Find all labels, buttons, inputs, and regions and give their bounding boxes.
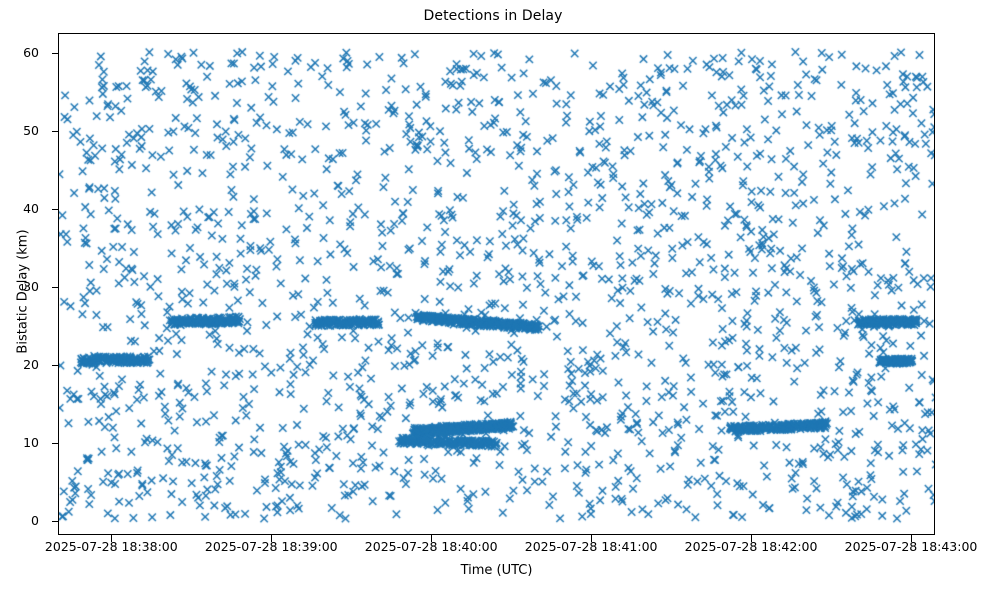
y-tick-mark [52, 365, 59, 366]
plot-area [58, 33, 935, 535]
matplotlib-figure: Detections in Delay 0102030405060 2025-0… [0, 0, 986, 590]
y-tick-label: 60 [23, 47, 39, 59]
y-tick-mark [52, 53, 59, 54]
x-axis-label: Time (UTC) [58, 563, 935, 578]
y-tick-mark [52, 443, 59, 444]
y-tick-label: 10 [23, 437, 39, 449]
y-tick-mark [52, 521, 59, 522]
y-tick-mark [52, 131, 59, 132]
x-tick-label: 2025-07-28 18:38:00 [45, 540, 178, 554]
scatter-data-layer [59, 34, 935, 535]
y-axis-label: Bistatic Delay (km) [16, 172, 31, 412]
x-tick-label: 2025-07-28 18:43:00 [845, 540, 978, 554]
x-tick-label: 2025-07-28 18:42:00 [685, 540, 818, 554]
y-tick-label: 50 [23, 125, 39, 137]
y-tick-label: 0 [31, 515, 39, 527]
chart-title: Detections in Delay [0, 8, 986, 24]
y-tick-mark [52, 287, 59, 288]
x-tick-label: 2025-07-28 18:41:00 [525, 540, 658, 554]
x-tick-label: 2025-07-28 18:40:00 [365, 540, 498, 554]
y-tick-mark [52, 209, 59, 210]
x-tick-label: 2025-07-28 18:39:00 [205, 540, 338, 554]
